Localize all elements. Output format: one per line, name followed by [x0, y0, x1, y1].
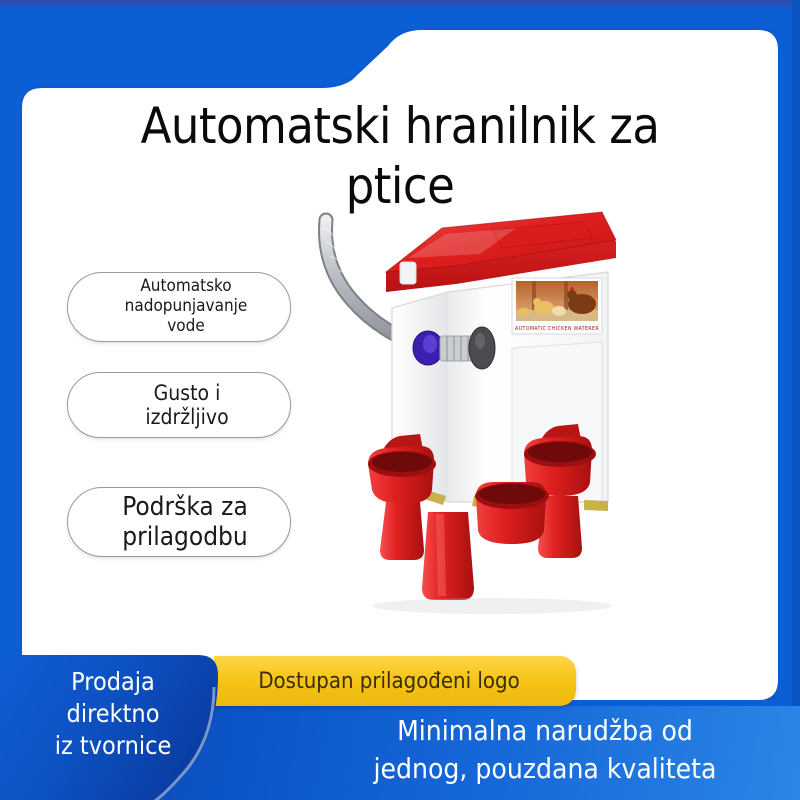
- feature-badge-label: Podrška za prilagodbu: [122, 492, 248, 552]
- custom-logo-banner-label: Dostupan prilagođeni logo: [214, 656, 564, 706]
- feature-badge-label: Gusto i izdržljivo: [145, 381, 228, 430]
- feature-badge-label: Automatsko nadopunjavanje vode: [125, 277, 248, 336]
- feature-badge-durable[interactable]: Gusto i izdržljivo: [67, 372, 291, 438]
- factory-direct-label: Prodaja direktno iz tvornice: [18, 666, 208, 762]
- background-right-strip: [792, 0, 800, 800]
- footer-blue-banner-label: Minimalna narudžba od jednog, pouzdana k…: [300, 712, 790, 788]
- feature-badge-customization[interactable]: Podrška za prilagodbu: [67, 487, 291, 557]
- background-top-strip: [0, 0, 800, 6]
- drinker-cup-front-middle: [475, 482, 549, 544]
- product-label: AUTOMATIC CHICKEN WATERER: [512, 278, 602, 334]
- product-poster: Automatski hranilnik za ptice Automatsko…: [0, 0, 800, 800]
- feature-badge-water-refill[interactable]: Automatsko nadopunjavanje vode: [67, 272, 291, 342]
- drinker-leg-front-center: [422, 512, 474, 600]
- svg-text:AUTOMATIC CHICKEN WATERER: AUTOMATIC CHICKEN WATERER: [515, 326, 599, 332]
- product-image: AUTOMATIC CHICKEN WATERER: [316, 196, 676, 616]
